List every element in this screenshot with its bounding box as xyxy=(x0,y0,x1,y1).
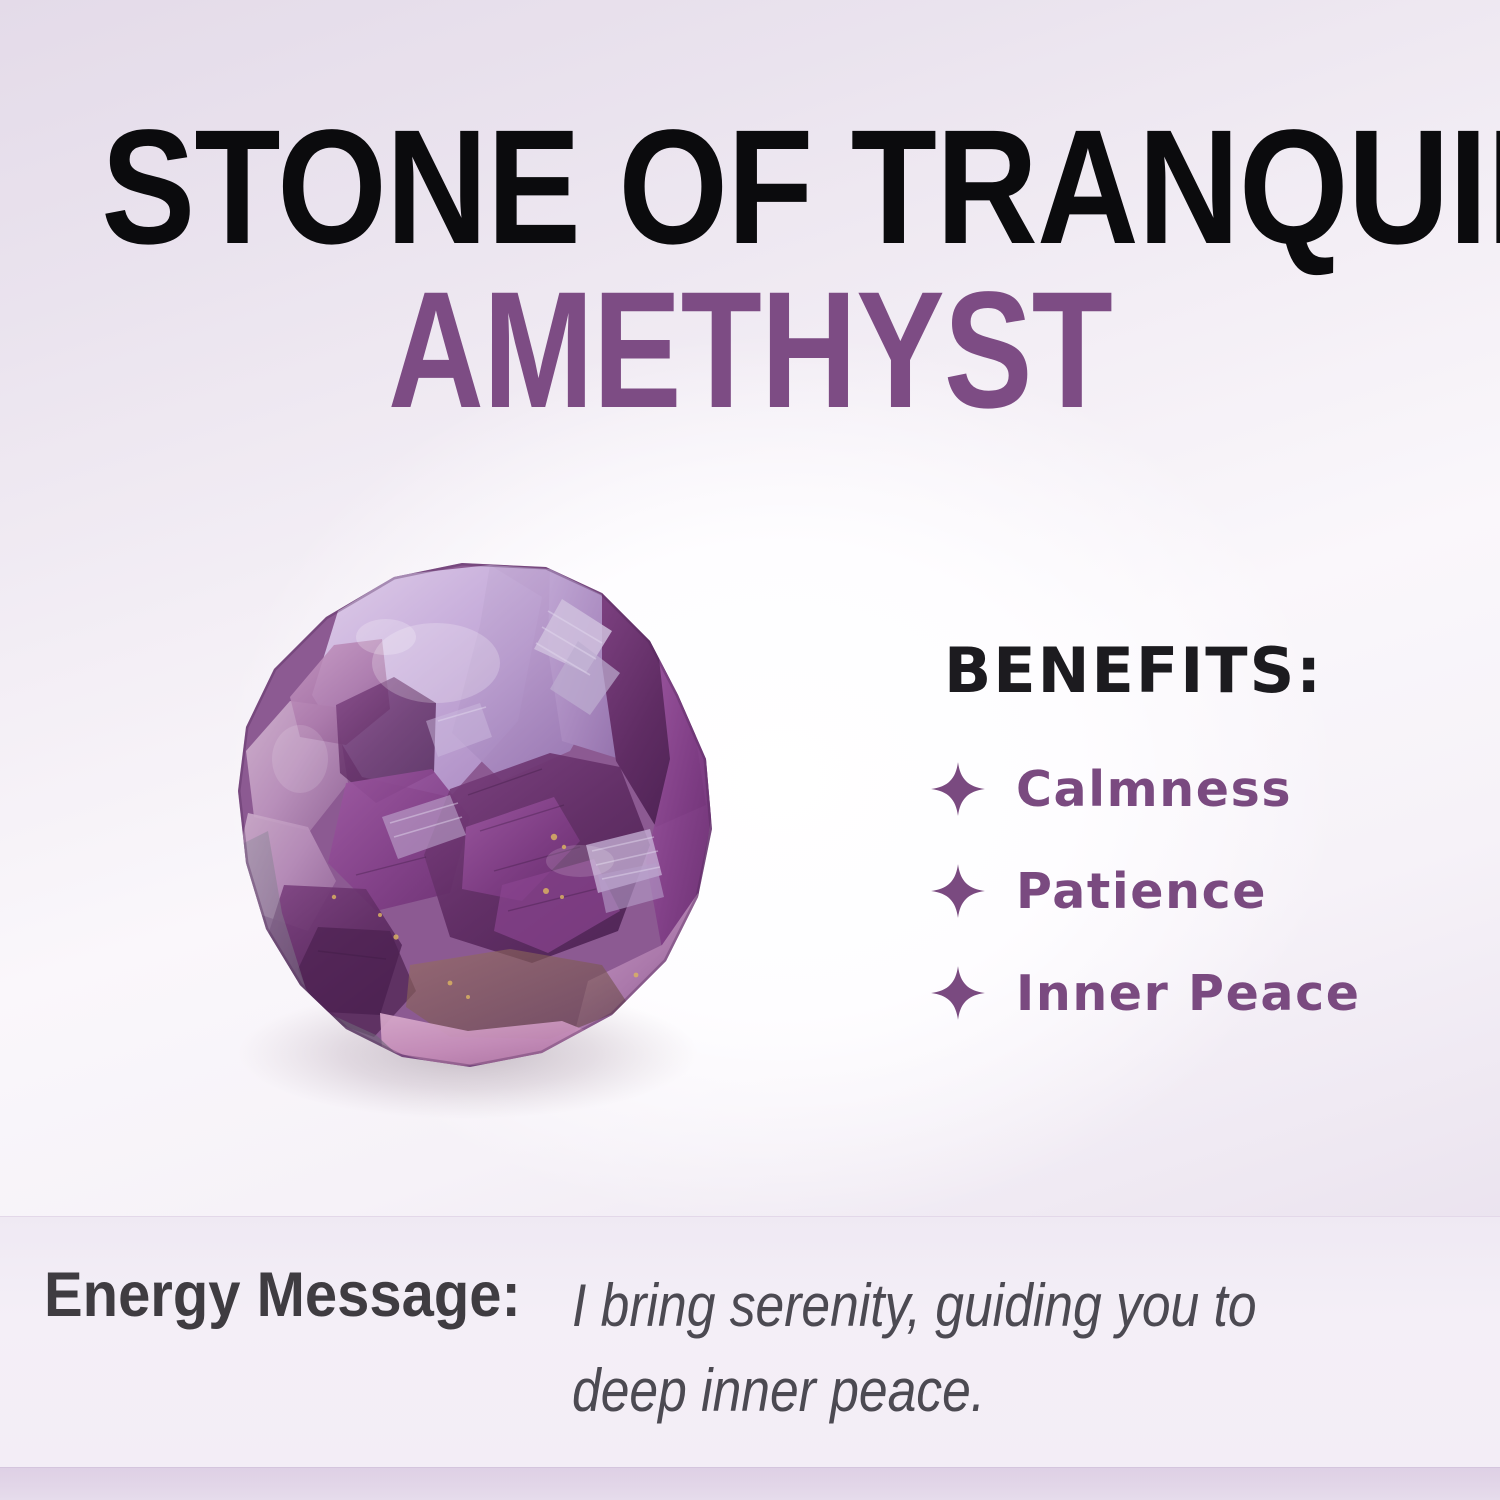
benefit-label: Patience xyxy=(1016,867,1267,916)
energy-message-label: Energy Message: xyxy=(44,1263,521,1327)
amethyst-crystal-image xyxy=(150,545,830,1135)
energy-message-row: Energy Message: I bring serenity, guidin… xyxy=(44,1263,1440,1433)
amethyst-crystal-icon xyxy=(150,545,830,1135)
sparkle-star-icon xyxy=(930,858,986,924)
benefit-item-patience: Patience xyxy=(930,858,1400,924)
header: STONE OF TRANQUILITY AMETHYST xyxy=(0,0,1500,430)
amethyst-info-card: STONE OF TRANQUILITY AMETHYST xyxy=(0,0,1500,1500)
benefits-heading: BENEFITS: xyxy=(944,640,1400,702)
energy-message-text: I bring serenity, guiding you to deep in… xyxy=(572,1263,1318,1433)
benefit-label: Calmness xyxy=(1016,765,1292,814)
benefit-item-inner-peace: Inner Peace xyxy=(930,960,1400,1026)
sparkle-star-icon xyxy=(930,960,986,1026)
bottom-accent-strip xyxy=(0,1467,1500,1500)
sparkle-star-icon xyxy=(930,756,986,822)
energy-message-band: Energy Message: I bring serenity, guidin… xyxy=(0,1216,1500,1469)
benefit-label: Inner Peace xyxy=(1016,969,1361,1018)
benefit-item-calmness: Calmness xyxy=(930,756,1400,822)
page-title: STONE OF TRANQUILITY xyxy=(101,112,1399,262)
stone-name-title: AMETHYST xyxy=(150,272,1350,430)
benefits-section: BENEFITS: Calmness Patience Inner Peace xyxy=(930,640,1400,1062)
